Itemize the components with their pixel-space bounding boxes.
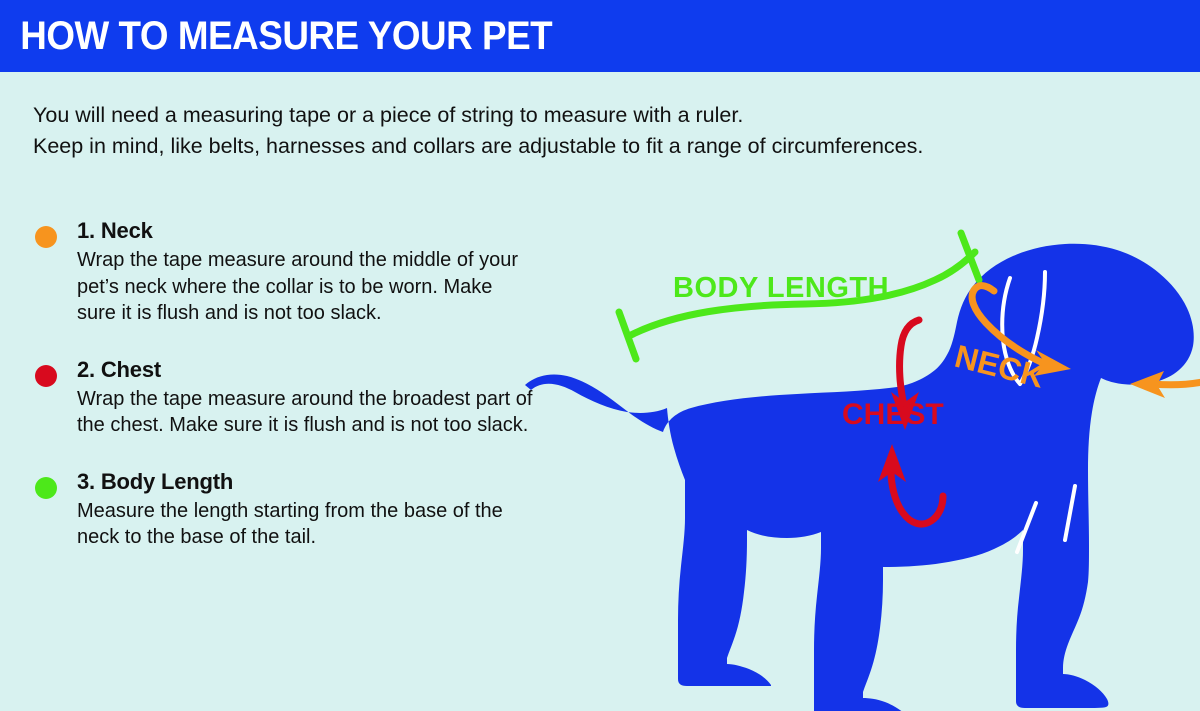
dog-measurement-diagram: BODY LENGTH NECK CHEST <box>505 180 1200 711</box>
steps-list: 1. Neck Wrap the tape measure around the… <box>33 218 533 581</box>
step-title: 2. Chest <box>77 357 533 383</box>
step-title: 3. Body Length <box>77 469 533 495</box>
list-item: 2. Chest Wrap the tape measure around th… <box>33 357 533 439</box>
infographic-page: HOW TO MEASURE YOUR PET You will need a … <box>0 0 1200 711</box>
dog-silhouette-icon <box>525 244 1194 711</box>
intro-line-2: Keep in mind, like belts, harnesses and … <box>33 131 1063 162</box>
step-body: Wrap the tape measure around the broades… <box>77 386 533 439</box>
intro-line-1: You will need a measuring tape or a piec… <box>33 100 1063 131</box>
chest-label: CHEST <box>842 398 944 431</box>
bullet-dot-icon <box>35 477 57 499</box>
intro-text: You will need a measuring tape or a piec… <box>33 100 1063 162</box>
step-body: Measure the length starting from the bas… <box>77 498 533 551</box>
page-title: HOW TO MEASURE YOUR PET <box>0 14 552 59</box>
step-body: Wrap the tape measure around the middle … <box>77 247 533 327</box>
list-item: 1. Neck Wrap the tape measure around the… <box>33 218 533 327</box>
body-length-label: BODY LENGTH <box>673 272 889 304</box>
list-item: 3. Body Length Measure the length starti… <box>33 469 533 551</box>
bullet-dot-icon <box>35 226 57 248</box>
header-bar: HOW TO MEASURE YOUR PET <box>0 0 1200 72</box>
bullet-dot-icon <box>35 365 57 387</box>
step-title: 1. Neck <box>77 218 533 244</box>
